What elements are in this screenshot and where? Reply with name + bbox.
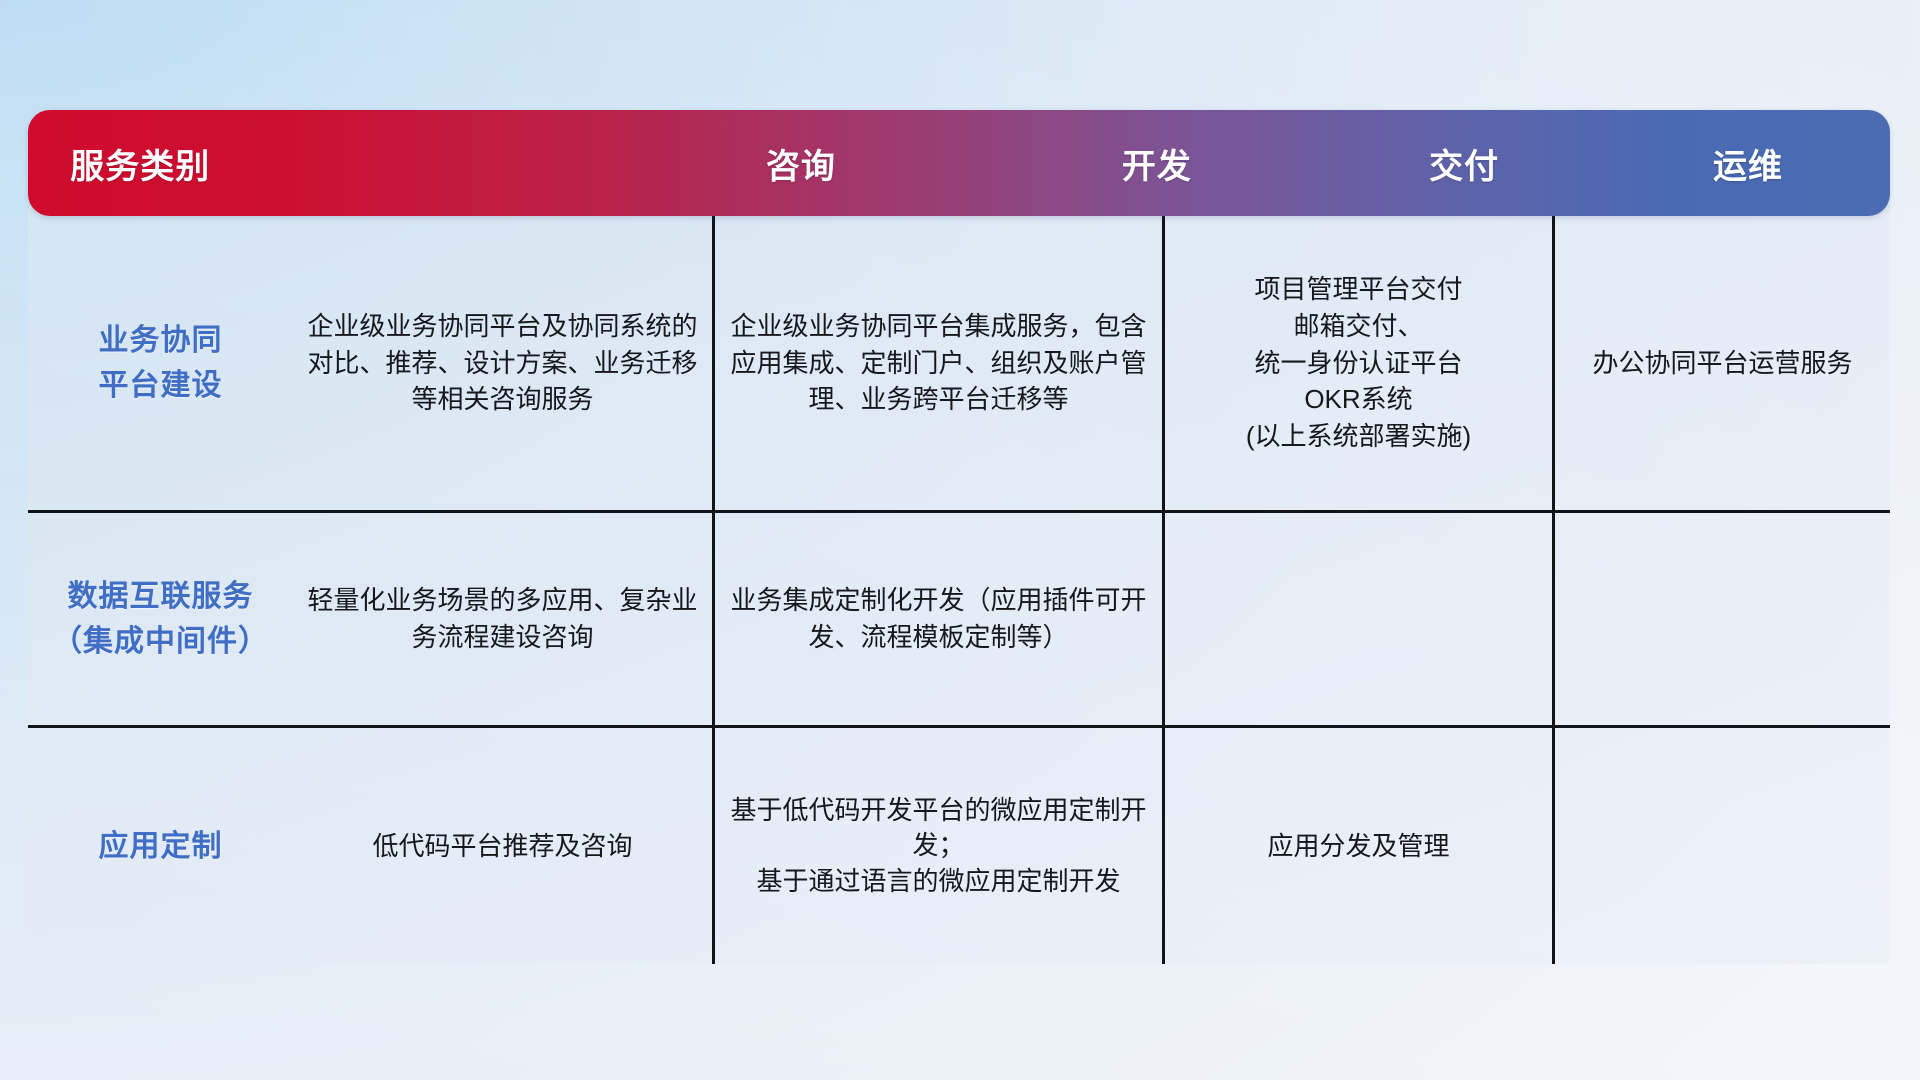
cell-consulting-row2: 轻量化业务场景的多应用、复杂业务流程建设咨询 [293,513,715,725]
column-header-spacer [253,110,611,216]
cell-consulting-row1: 企业级业务协同平台及协同系统的对比、推荐、设计方案、业务迁移等相关咨询服务 [293,216,715,510]
column-header-consulting[interactable]: 咨询 [610,110,991,216]
column-header-operations[interactable]: 运维 [1606,110,1890,216]
table-row: 业务协同 平台建设 企业级业务协同平台及协同系统的对比、推荐、设计方案、业务迁移… [28,216,1890,510]
service-matrix-table: 服务类别 咨询 开发 交付 运维 业务协同 平台建设 企业级业务协同平台及协同系… [28,110,1890,952]
column-header-development[interactable]: 开发 [992,110,1323,216]
row-label-business-collaboration: 业务协同 平台建设 [28,216,293,510]
column-header-category[interactable]: 服务类别 [28,110,253,216]
table-row: 数据互联服务 （集成中间件） 轻量化业务场景的多应用、复杂业务流程建设咨询 业务… [28,510,1890,725]
slide-canvas: 服务类别 咨询 开发 交付 运维 业务协同 平台建设 企业级业务协同平台及协同系… [0,0,1920,1080]
cell-development-row1: 企业级业务协同平台集成服务，包含应用集成、定制门户、组织及账户管理、业务跨平台迁… [715,216,1165,510]
cell-delivery-row1: 项目管理平台交付 邮箱交付、 统一身份认证平台 OKR系统 (以上系统部署实施) [1165,216,1555,510]
cell-operations-row1: 办公协同平台运营服务 [1555,216,1890,510]
cell-operations-row2 [1555,513,1890,725]
cell-development-row3: 基于低代码开发平台的微应用定制开发； 基于通过语言的微应用定制开发 [715,728,1165,964]
row-label-data-interconnect: 数据互联服务 （集成中间件） [28,513,293,725]
cell-development-row2: 业务集成定制化开发（应用插件可开发、流程模板定制等） [715,513,1165,725]
cell-delivery-row3: 应用分发及管理 [1165,728,1555,964]
cell-consulting-row3: 低代码平台推荐及咨询 [293,728,715,964]
row-label-app-customization: 应用定制 [28,728,293,964]
cell-delivery-row2 [1165,513,1555,725]
cell-operations-row3 [1555,728,1890,964]
table-row: 应用定制 低代码平台推荐及咨询 基于低代码开发平台的微应用定制开发； 基于通过语… [28,725,1890,964]
table-body: 业务协同 平台建设 企业级业务协同平台及协同系统的对比、推荐、设计方案、业务迁移… [28,204,1890,964]
column-header-delivery[interactable]: 交付 [1322,110,1606,216]
table-header-row: 服务类别 咨询 开发 交付 运维 [28,110,1890,216]
